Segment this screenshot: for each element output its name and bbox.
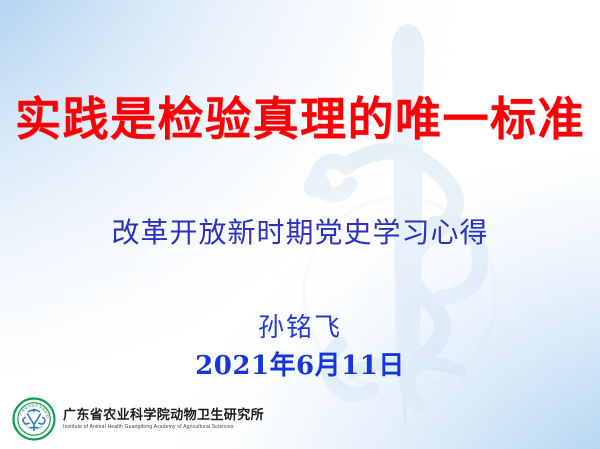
presentation-slide: 实践是检验真理的唯一标准 改革开放新时期党史学习心得 孙铭飞 2021年6月11… [0,0,600,449]
author-name: 孙铭飞 [0,314,600,344]
slide-subtitle: 改革开放新时期党史学习心得 [0,218,600,249]
institute-name-en: Institute of Animal Health Guangdong Aca… [63,424,264,429]
slide-title: 实践是检验真理的唯一标准 [0,95,600,145]
institute-name-block: 广东省农业科学院动物卫生研究所 Institute of Animal Heal… [63,409,264,430]
presentation-date: 2021年6月11日 [0,352,600,382]
footer-branding: 广东省农业科学院动物卫生研究所 INSTITUTE OF ANIMAL HEAL… [12,397,264,441]
institute-emblem-icon: 广东省农业科学院动物卫生研究所 INSTITUTE OF ANIMAL HEAL… [12,397,56,441]
institute-name-cn: 广东省农业科学院动物卫生研究所 [63,409,264,422]
